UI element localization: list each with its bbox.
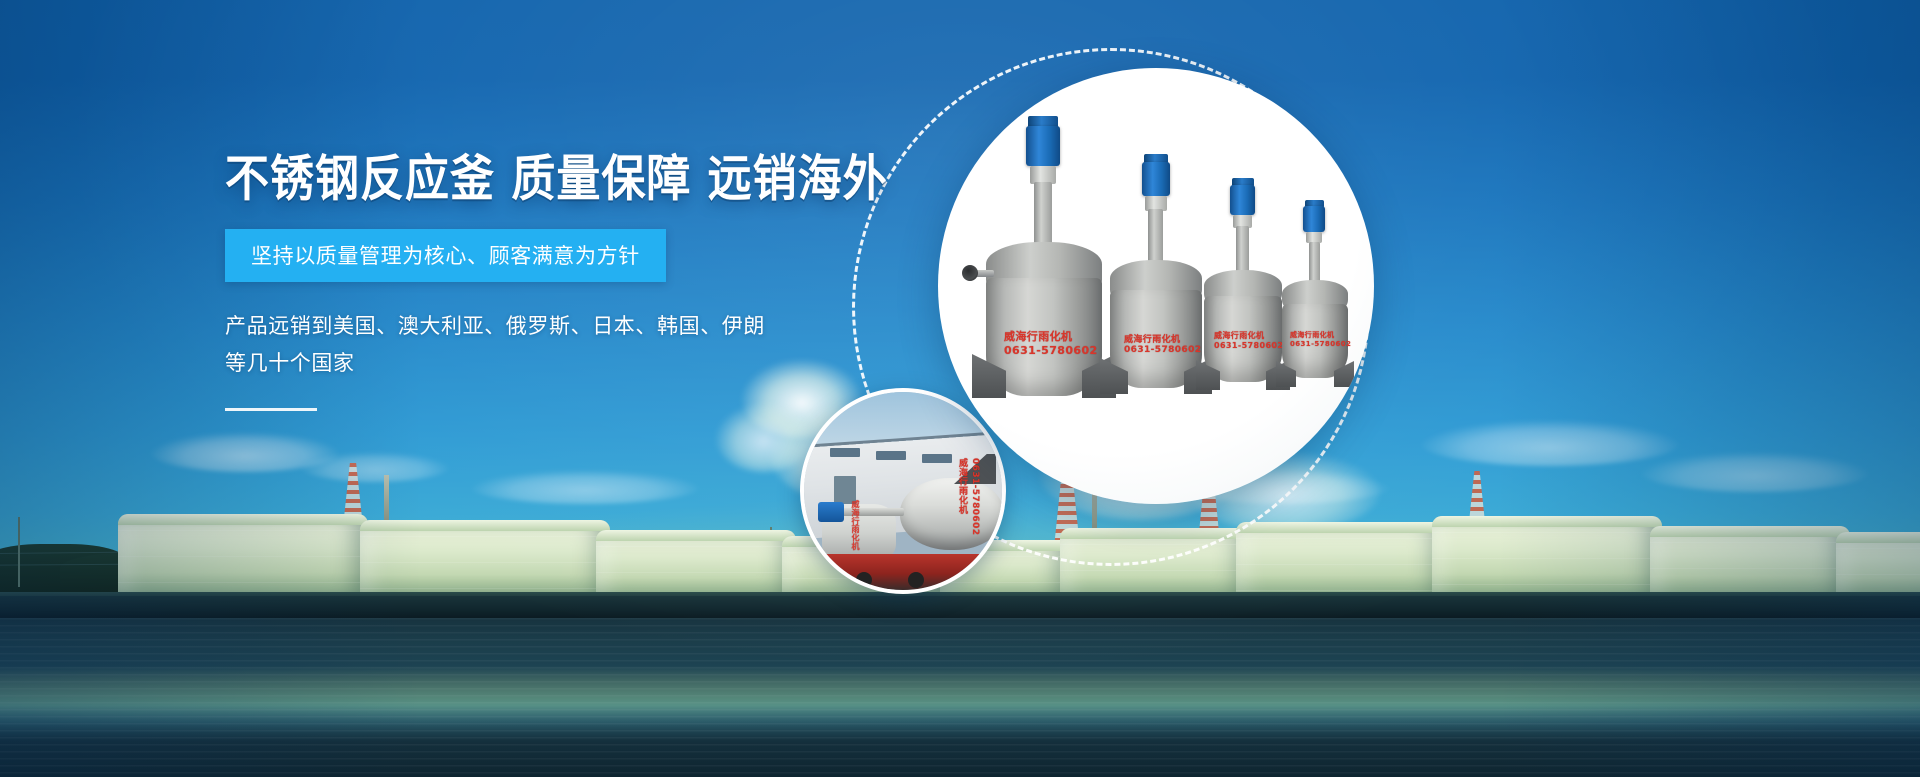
vessel-3-watermark-company: 威海行雨化机: [1214, 330, 1264, 341]
vessel-4-motor: [1303, 206, 1325, 232]
vessel-3-watermark-phone: 0631-5780602: [1214, 341, 1283, 350]
banner-text-block: 不锈钢反应釜 质量保障 远销海外 坚持以质量管理为核心、顾客满意为方针 产品远销…: [225, 155, 865, 411]
photo-reactor-vessel: [900, 478, 1004, 550]
photo-watermark-company: 威海行雨化机: [956, 458, 969, 514]
vessel-2-watermark-company: 威海行雨化机: [1124, 332, 1180, 345]
storage-tank-1: [118, 514, 368, 600]
building-window-3: [922, 454, 952, 463]
vessel-1-neck: [1034, 182, 1052, 248]
vessel-4-watermark-company: 威海行雨化机: [1290, 330, 1334, 340]
storage-tank-3: [596, 530, 796, 600]
vessel-1-flange-left: [962, 265, 978, 281]
vessel-1-watermark-company: 威海行雨化机: [1004, 328, 1072, 344]
building-window-2: [876, 451, 906, 460]
vessel-2-neck: [1148, 209, 1163, 265]
vessel-3-motor: [1230, 185, 1255, 215]
vessel-2-motor: [1142, 162, 1170, 196]
vessel-2-watermark-phone: 0631-5780602: [1124, 345, 1201, 355]
factory-photo-circle: 威海行雨化机 0631-5780602 威海行雨化机: [800, 388, 1006, 594]
utility-pylon-1: [18, 517, 20, 587]
reactor-vessel-2: 威海行雨化机 0631-5780602: [1110, 154, 1202, 402]
vessel-4-watermark-phone: 0631-5780602: [1290, 340, 1351, 348]
storage-tank-10: [1836, 532, 1920, 600]
description-line-2: 等几十个国家: [225, 345, 865, 382]
banner-headline: 不锈钢反应釜 质量保障 远销海外: [225, 155, 865, 204]
photo-transport-truck: [804, 554, 1002, 590]
photo-motor: [818, 502, 844, 522]
banner-description: 产品远销到美国、澳大利亚、俄罗斯、日本、韩国、伊朗 等几十个国家: [225, 308, 865, 382]
reactor-vessel-1: 威海行雨化机 0631-5780602: [986, 116, 1102, 408]
banner-subtitle-text: 坚持以质量管理为核心、顾客满意为方针: [251, 244, 640, 268]
vessel-1-motor: [1026, 126, 1060, 166]
banner-subtitle-bar: 坚持以质量管理为核心、顾客满意为方针: [225, 229, 666, 282]
vessel-4-neck: [1309, 242, 1320, 284]
reactor-vessel-3: 威海行雨化机 0631-5780602: [1204, 178, 1282, 396]
building-window-1: [830, 448, 860, 457]
storage-tank-9: [1650, 526, 1850, 600]
photo-watermark-company-2: 威海行雨化机: [850, 500, 861, 550]
description-line-1: 产品远销到美国、澳大利亚、俄罗斯、日本、韩国、伊朗: [225, 308, 865, 345]
vessel-1-watermark-phone: 0631-5780602: [1004, 344, 1098, 357]
vessel-3-neck: [1236, 226, 1249, 274]
storage-tank-6: [1060, 528, 1250, 600]
storage-tank-2: [360, 520, 610, 600]
storage-tank-8: [1432, 516, 1662, 600]
reactor-vessel-4: 威海行雨化机 0631-5780602: [1282, 200, 1348, 392]
storage-tank-7: [1236, 522, 1446, 600]
product-showcase-circle: 威海行雨化机 0631-5780602 威海行雨化机 0631-5780602: [938, 68, 1374, 504]
text-divider-rule: [225, 408, 317, 411]
photo-truck-wheel-2: [908, 572, 924, 588]
water-surface: [0, 618, 1920, 777]
photo-truck-wheel-1: [856, 572, 872, 588]
photo-watermark-phone: 0631-5780602: [970, 458, 980, 535]
shoreline: [0, 596, 1920, 620]
hero-banner: 威海行雨化机 0631-5780602 威海行雨化机 威海行雨化机 0631-5…: [0, 0, 1920, 777]
